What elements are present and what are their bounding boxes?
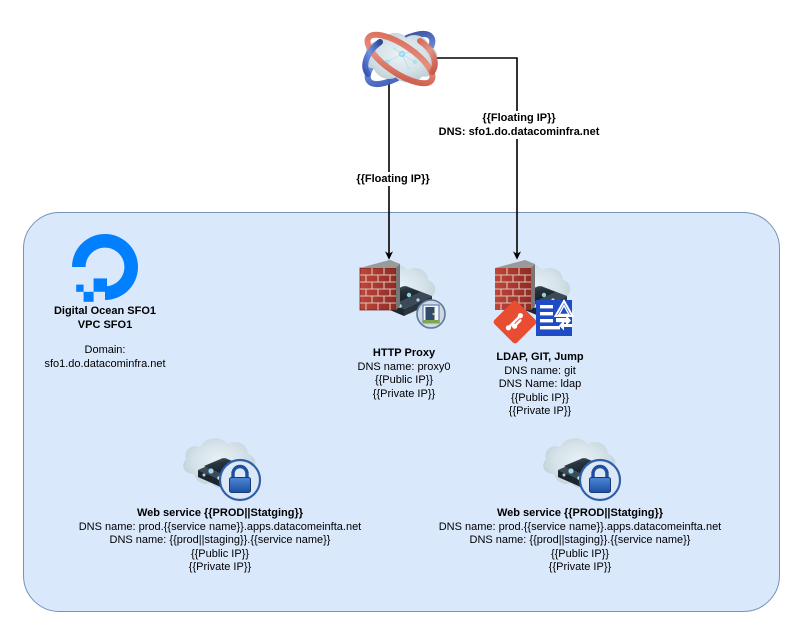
vpc-domain-line1: Domain: <box>5 344 205 358</box>
vpc-title-line1: Digital Ocean SFO1 <box>5 305 205 319</box>
web-service-left-title: Web service {{PROD||Statging}} <box>30 507 410 521</box>
vpc-title: Digital Ocean SFO1 VPC SFO1 <box>5 305 205 332</box>
ldap-git-jump-title: LDAP, GIT, Jump <box>450 351 630 365</box>
node-web-service-right[interactable]: Web service {{PROD||Statging}} DNS name:… <box>390 507 770 575</box>
edge-label-right-line2: DNS: sfo1.do.datacominfra.net <box>435 125 603 139</box>
node-digital-ocean-vpc[interactable]: Digital Ocean SFO1 VPC SFO1 Domain: sfo1… <box>5 305 205 371</box>
ldap-git-jump-line-2: {{Public IP}} <box>450 392 630 406</box>
ldap-git-jump-line-3: {{Private IP}} <box>450 405 630 419</box>
lock-icon <box>580 460 620 500</box>
internet-cloud-icon <box>360 25 439 93</box>
ldap-git-jump-line-1: DNS Name: ldap <box>450 378 630 392</box>
web-service-right-title: Web service {{PROD||Statging}} <box>390 507 770 521</box>
web-service-right-line-3: {{Private IP}} <box>390 561 770 575</box>
web-service-left-line-3: {{Private IP}} <box>30 561 410 575</box>
lock-icon <box>220 460 260 500</box>
edge-label-left-floating-ip: {{Floating IP}} <box>349 172 437 186</box>
edge-label-left-line1: {{Floating IP}} <box>351 172 435 186</box>
ldap-git-jump-line-0: DNS name: git <box>450 365 630 379</box>
ldap-jump-icon <box>536 300 573 336</box>
node-ldap-git-jump[interactable]: LDAP, GIT, Jump DNS name: git DNS Name: … <box>450 351 630 419</box>
node-web-service-left[interactable]: Web service {{PROD||Statging}} DNS name:… <box>30 507 410 575</box>
web-service-left-line-1: DNS name: {{prod||staging}}.{{service na… <box>30 534 410 548</box>
web-service-right-line-2: {{Public IP}} <box>390 548 770 562</box>
vpc-domain: Domain: sfo1.do.datacominfra.net <box>5 344 205 371</box>
web-service-left-line-2: {{Public IP}} <box>30 548 410 562</box>
edge-label-right-floating-ip: {{Floating IP}} DNS: sfo1.do.datacominfr… <box>433 111 605 139</box>
proxy-badge-icon <box>417 300 445 328</box>
vpc-domain-line2: sfo1.do.datacominfra.net <box>5 358 205 372</box>
edge-label-right-line1: {{Floating IP}} <box>435 111 603 125</box>
vpc-title-line2: VPC SFO1 <box>5 319 205 333</box>
web-service-right-line-1: DNS name: {{prod||staging}}.{{service na… <box>390 534 770 548</box>
web-service-right-line-0: DNS name: prod.{{service name}}.apps.dat… <box>390 521 770 535</box>
web-service-left-line-0: DNS name: prod.{{service name}}.apps.dat… <box>30 521 410 535</box>
